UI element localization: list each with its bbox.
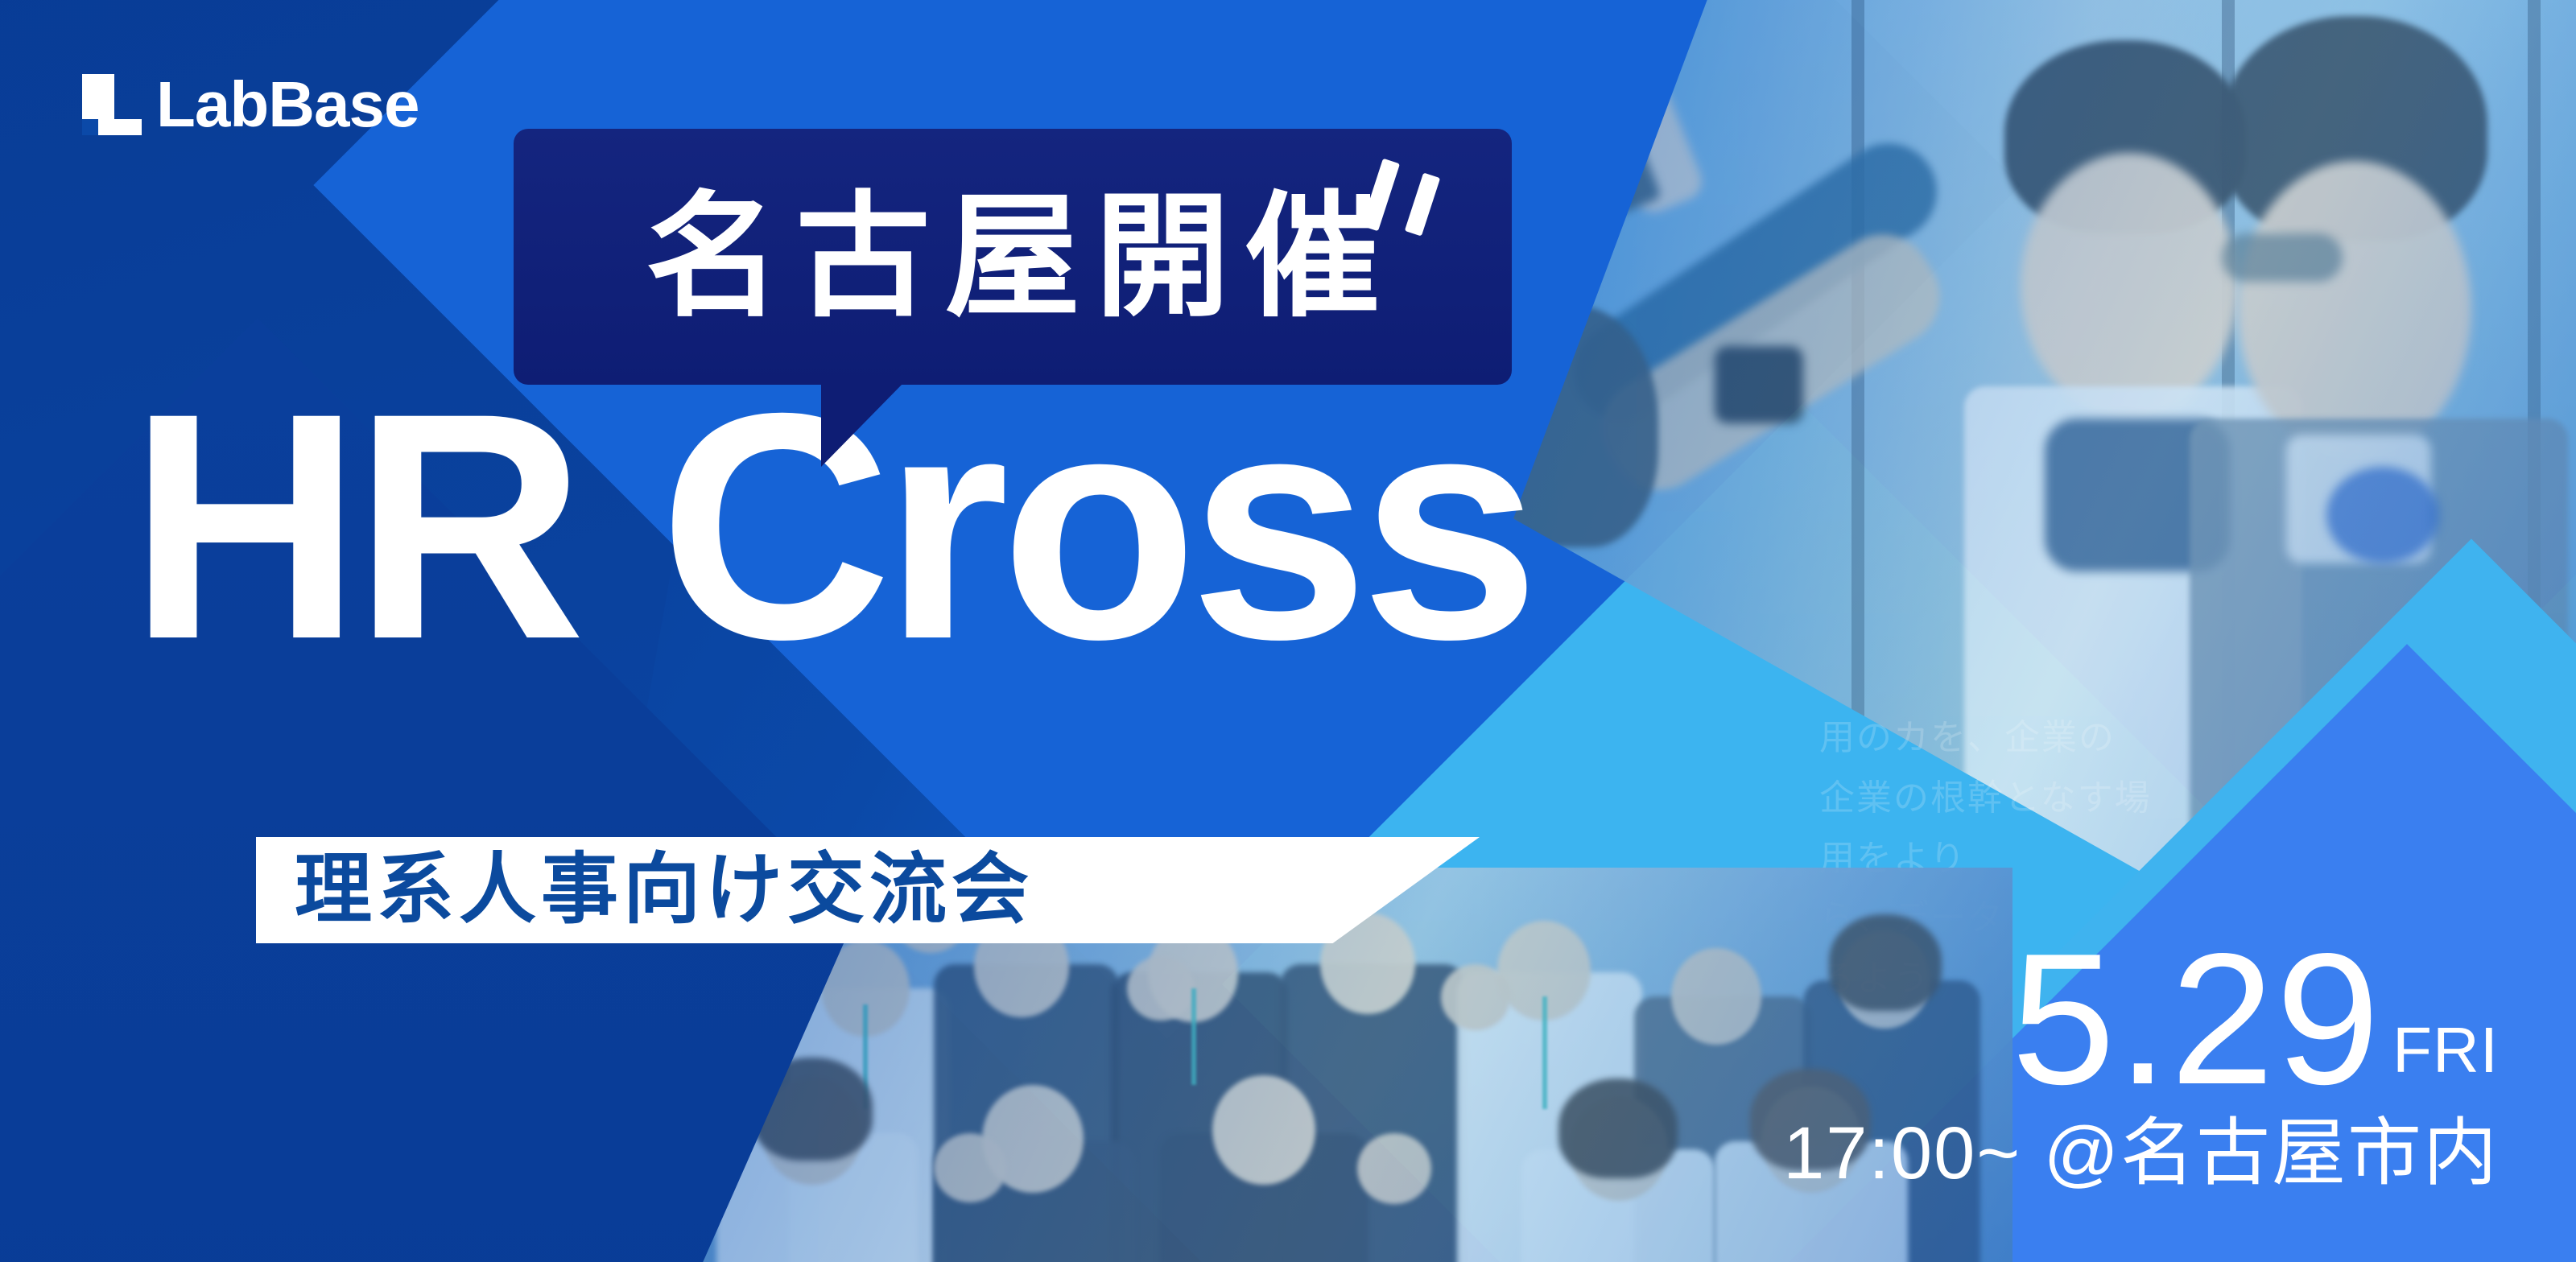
subtitle-label: 理系人事向け交流会 <box>295 852 1034 929</box>
event-date-block: 5.29 FRI 17:00~ @名古屋市内 <box>1783 939 2499 1194</box>
event-date: 5.29 <box>2012 939 2382 1100</box>
labbase-l-mark <box>68 74 129 135</box>
badge-tail <box>821 383 903 467</box>
badge-label: 名古屋開催 <box>631 189 1394 324</box>
subtitle-bar: 理系人事向け交流会 <box>256 837 1480 943</box>
nagoya-badge: 名古屋開催 <box>514 129 1512 385</box>
labbase-logo[interactable]: LabBase <box>68 68 419 142</box>
double-slash-icon <box>1364 156 1460 245</box>
badge-body: 名古屋開催 <box>514 129 1512 385</box>
labbase-wordmark: LabBase <box>156 68 419 142</box>
event-day-of-week: FRI <box>2392 1018 2499 1100</box>
event-banner: 用のカを、企業の 企業の根幹となす場 用をより ら、データ るよう <box>0 0 2576 1262</box>
event-time-place: 17:00~ @名古屋市内 <box>1783 1113 2499 1194</box>
